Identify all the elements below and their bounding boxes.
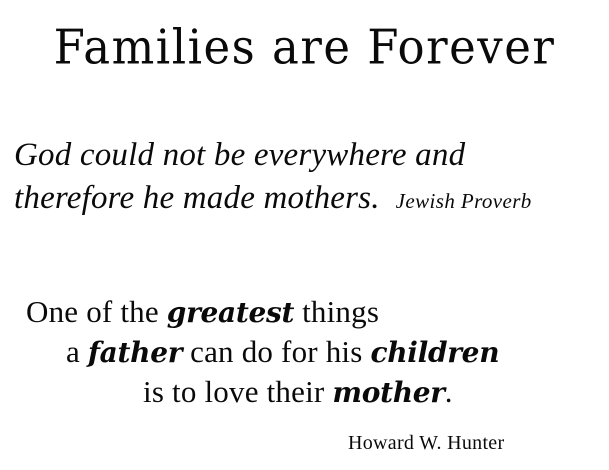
page-title: Families are Forever xyxy=(0,18,609,77)
quote-one-line-2-text: therefore he made mothers. xyxy=(14,180,380,216)
quote-two-attribution: Howard W. Hunter xyxy=(0,412,609,457)
quote-one-attribution: Jewish Proverb xyxy=(380,189,532,213)
quote-two-line-3-suffix: . xyxy=(445,374,453,409)
quote-two-emphasis-children: children xyxy=(370,336,499,369)
quote-one-line-1: God could not be everywhere and xyxy=(14,134,609,177)
quote-two-emphasis-father: father xyxy=(88,336,182,369)
quote-one-block: God could not be everywhere and therefor… xyxy=(14,134,609,223)
quote-one-line-2: therefore he made mothers.Jewish Proverb xyxy=(14,177,609,223)
quote-two-line-1-suffix: things xyxy=(294,294,379,329)
quote-two-line-1-prefix: One of the xyxy=(26,294,167,329)
poster-canvas: Families are Forever God could not be ev… xyxy=(0,0,609,470)
quote-two-line-2-prefix: a xyxy=(66,334,88,369)
quote-two-block: One of the greatest things a father can … xyxy=(0,292,609,457)
quote-one-line-1-text: God could not be everywhere and xyxy=(14,137,465,173)
quote-two-line-1: One of the greatest things xyxy=(0,292,609,332)
quote-two-emphasis-mother: mother xyxy=(332,376,444,409)
quote-two-line-2: a father can do for his children xyxy=(0,332,609,372)
title-block: Families are Forever xyxy=(0,18,609,74)
quote-two-line-3-prefix: is to love their xyxy=(143,374,332,409)
quote-two-emphasis-greatest: greatest xyxy=(167,296,294,329)
quote-two-line-2-middle: can do for his xyxy=(182,334,370,369)
quote-two-line-3: is to love their mother. xyxy=(0,372,609,412)
